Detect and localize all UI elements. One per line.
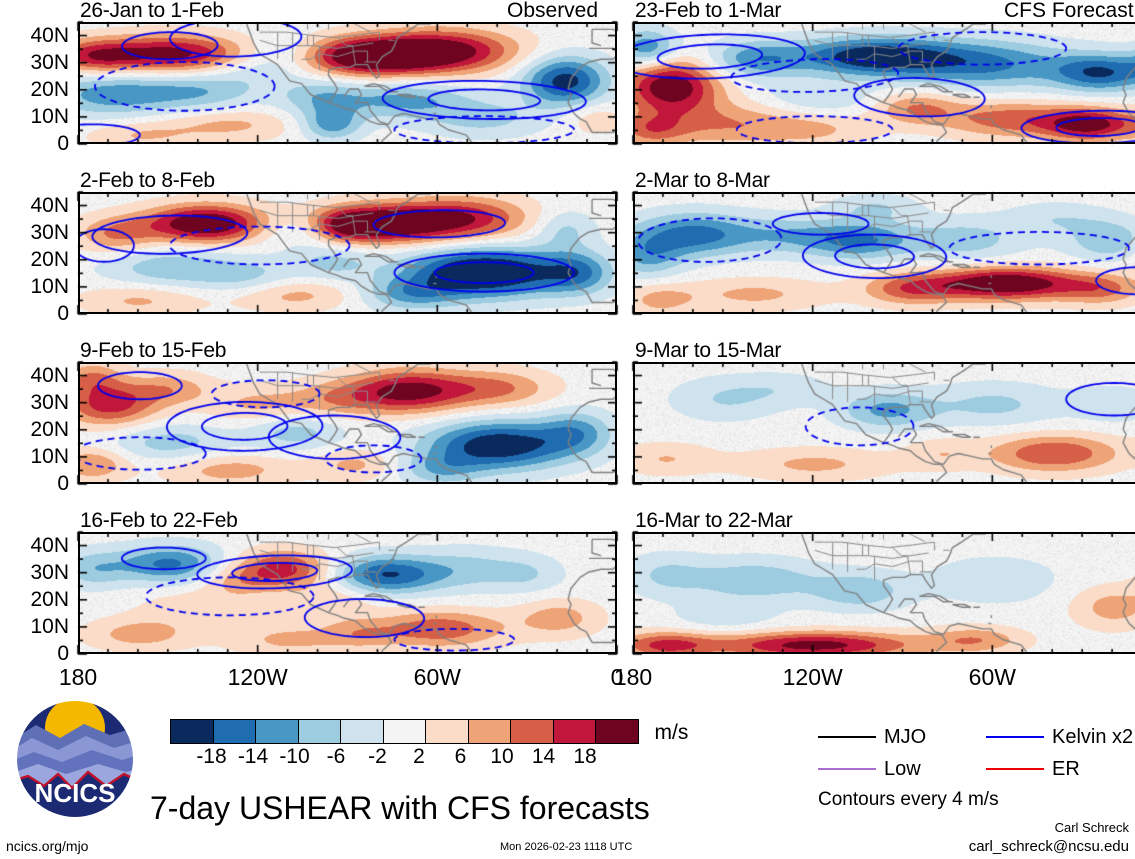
x-axis-label: 120W — [773, 664, 853, 691]
axis-ticks — [66, 180, 629, 326]
svg-text:NCICS: NCICS — [35, 778, 116, 808]
axis-ticks — [66, 350, 629, 496]
y-axis-label: 10N — [0, 445, 69, 469]
legend-label-kelvin-x2: Kelvin x2 — [1052, 726, 1133, 749]
colorbar-tick-label: 18 — [555, 745, 615, 769]
y-axis-label: 10N — [0, 615, 69, 639]
y-axis-label: 20N — [0, 78, 69, 102]
colorbar-segment-8 — [511, 720, 554, 743]
y-axis-label: 0 — [0, 642, 69, 666]
colorbar-segment-7 — [469, 720, 512, 743]
legend-line-low — [818, 768, 876, 770]
colorbar-segment-3 — [299, 720, 342, 743]
x-axis-label: 60W — [952, 664, 1032, 691]
y-axis-label: 20N — [0, 418, 69, 442]
y-axis-label: 40N — [0, 534, 69, 558]
colorbar-segment-1 — [214, 720, 257, 743]
legend-line-mjo — [818, 736, 876, 738]
legend-line-kelvin-x2 — [986, 736, 1044, 738]
y-axis-label: 30N — [0, 561, 69, 585]
y-axis-label: 0 — [0, 302, 69, 326]
y-axis-label: 20N — [0, 248, 69, 272]
y-axis-label: 30N — [0, 391, 69, 415]
colorbar-segment-6 — [426, 720, 469, 743]
y-axis-label: 10N — [0, 275, 69, 299]
y-axis-label: 40N — [0, 364, 69, 388]
axis-ticks — [66, 520, 629, 666]
author-name: Carl Schreck — [1055, 820, 1129, 835]
contour-interval-note: Contours every 4 m/s — [818, 789, 999, 811]
colorbar-segment-10 — [596, 720, 638, 743]
axis-ticks — [66, 10, 629, 156]
axis-ticks — [621, 350, 1135, 496]
legend-label-low: Low — [884, 758, 921, 781]
x-axis-label: 180 — [593, 664, 673, 691]
colorbar-segment-4 — [341, 720, 384, 743]
colorbar-units-label: m/s — [655, 721, 689, 745]
legend-label-mjo: MJO — [884, 726, 926, 749]
y-axis-label: 30N — [0, 51, 69, 75]
ncics-logo: NCICS — [14, 698, 136, 820]
legend-line-er — [986, 768, 1044, 770]
colorbar-segment-2 — [256, 720, 299, 743]
colorbar — [170, 719, 639, 744]
site-url: ncics.org/mjo — [6, 838, 88, 854]
axis-ticks — [621, 10, 1135, 156]
y-axis-label: 0 — [0, 472, 69, 496]
y-axis-label: 40N — [0, 24, 69, 48]
axis-ticks — [621, 520, 1135, 666]
colorbar-segment-5 — [384, 720, 427, 743]
y-axis-label: 10N — [0, 105, 69, 129]
x-axis-label: 120W — [218, 664, 298, 691]
timestamp: Mon 2026-02-23 1118 UTC — [500, 841, 632, 853]
colorbar-segment-9 — [554, 720, 597, 743]
author-email: carl_schreck@ncsu.edu — [969, 838, 1129, 855]
colorbar-segment-0 — [171, 720, 214, 743]
axis-ticks — [621, 180, 1135, 326]
y-axis-label: 20N — [0, 588, 69, 612]
x-axis-label: 180 — [38, 664, 118, 691]
y-axis-label: 0 — [0, 132, 69, 156]
x-axis-label: 60W — [397, 664, 477, 691]
main-title: 7-day USHEAR with CFS forecasts — [150, 790, 650, 827]
y-axis-label: 40N — [0, 194, 69, 218]
y-axis-label: 30N — [0, 221, 69, 245]
legend-label-er: ER — [1052, 758, 1080, 781]
